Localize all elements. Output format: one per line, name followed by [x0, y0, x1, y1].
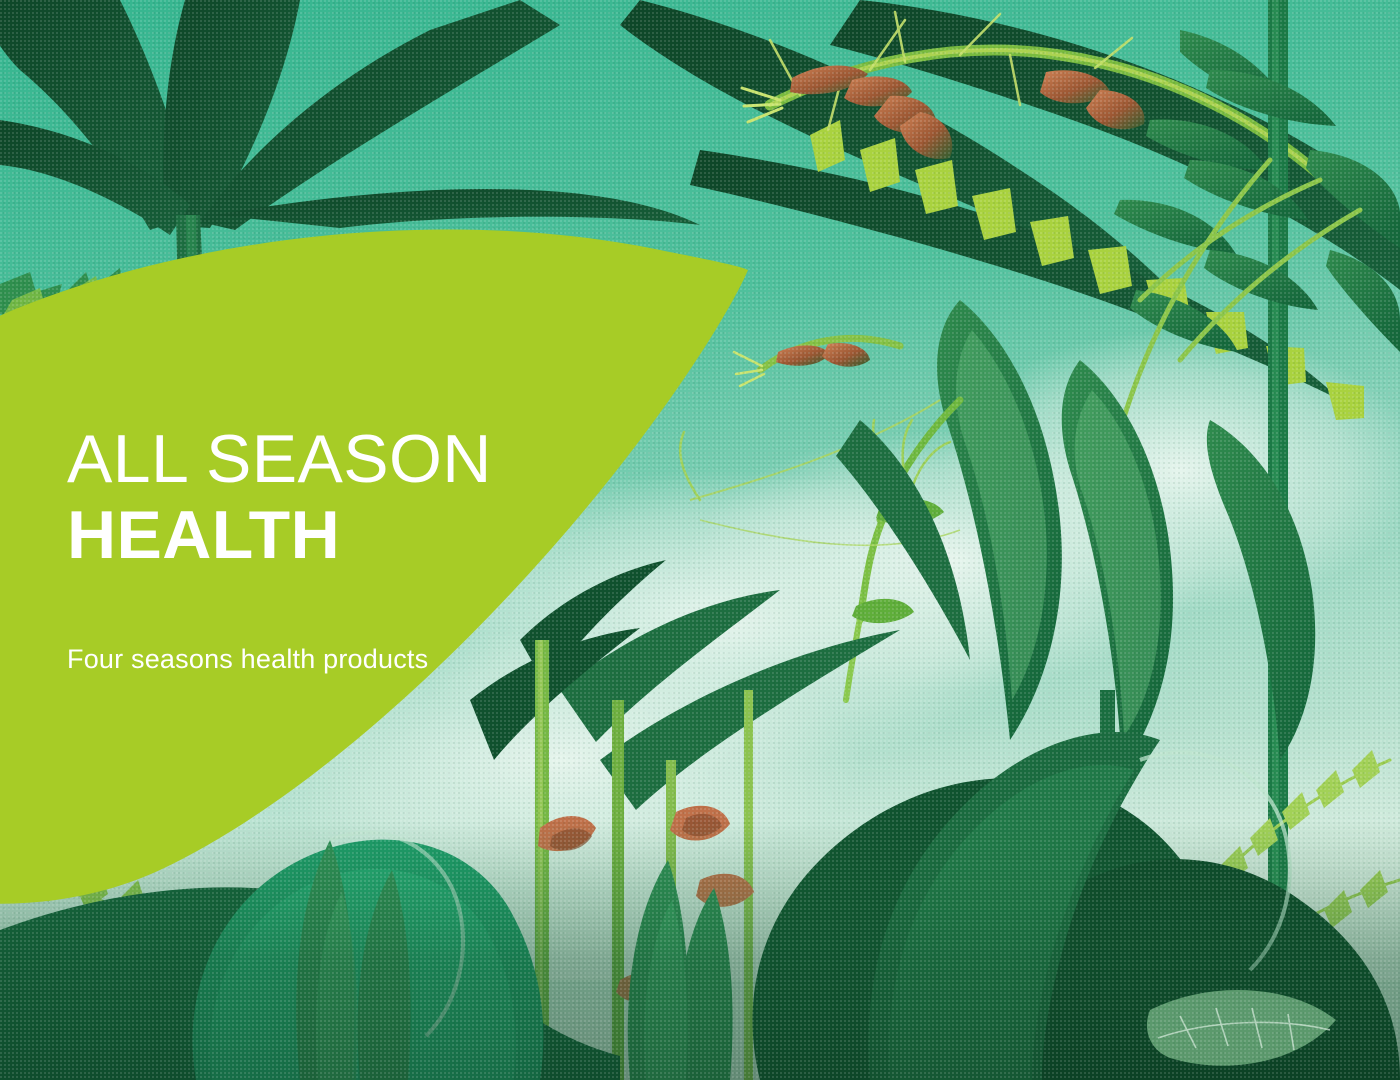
headline-line-2: HEALTH	[67, 501, 627, 570]
headline-line-1: ALL SEASON	[67, 425, 627, 494]
page-title: ALL SEASON HEALTH	[67, 425, 627, 570]
subheading: Four seasons health products	[67, 644, 627, 675]
headline-block: ALL SEASON HEALTH Four seasons health pr…	[67, 404, 627, 675]
poster-canvas: ALL SEASON HEALTH Four seasons health pr…	[0, 0, 1400, 1080]
